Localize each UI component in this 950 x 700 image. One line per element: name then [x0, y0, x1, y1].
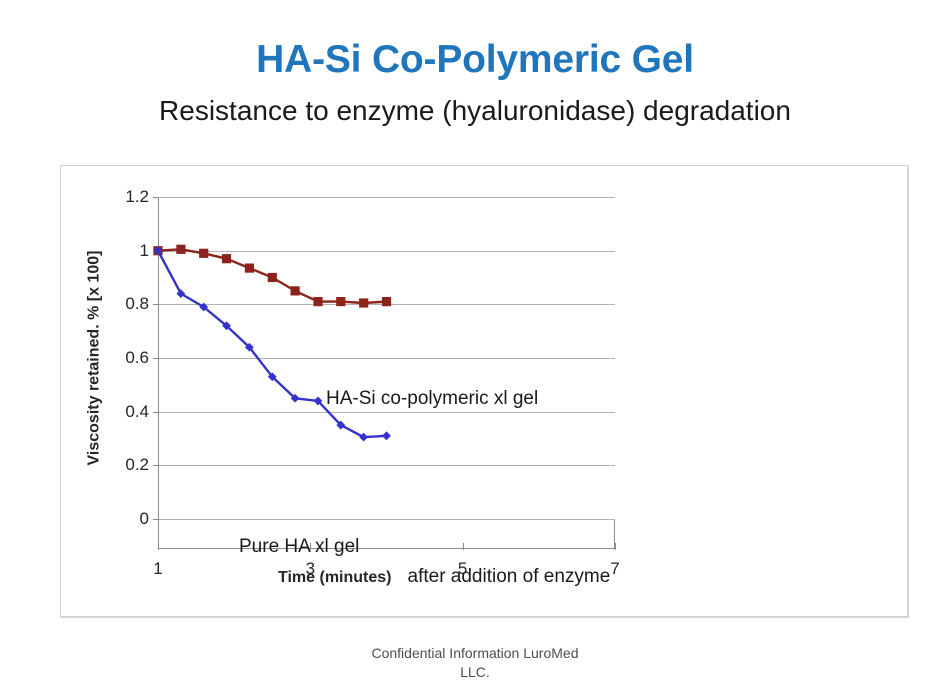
y-tick-mark	[153, 519, 159, 520]
x-axis-title-bold: Time (minutes)	[278, 569, 392, 586]
y-tick-label: 0.8	[125, 294, 149, 314]
y-axis-title: Viscosity retained. % [x 100]	[83, 197, 105, 519]
data-point	[382, 297, 391, 306]
data-point	[222, 254, 231, 263]
x-axis-title-suffix: after addition of enzyme	[408, 566, 611, 587]
series-plot	[158, 197, 615, 519]
data-point	[382, 431, 391, 440]
y-axis-title-label: Viscosity retained. % [x 100]	[85, 251, 103, 466]
footer: Confidential Information LuroMed LLC.	[0, 644, 950, 682]
data-point	[359, 433, 368, 442]
x-axis-title: Time (minutes) after addition of enzyme	[158, 566, 758, 588]
data-point	[176, 245, 185, 254]
x-tick-mark	[463, 543, 464, 550]
y-tick-label: 1.2	[125, 187, 149, 207]
y-tick-label: 0.6	[125, 348, 149, 368]
gridline	[158, 519, 615, 520]
data-point	[291, 286, 300, 295]
x-tick-mark	[615, 543, 616, 550]
series-label-ha-si: HA-Si co-polymeric xl gel	[326, 388, 538, 410]
y-tick-label: 0.2	[125, 455, 149, 475]
data-point	[268, 273, 277, 282]
x-tick-mark	[158, 543, 159, 550]
footer-line-1: Confidential Information LuroMed	[0, 644, 950, 663]
page-subtitle: Resistance to enzyme (hyaluronidase) deg…	[0, 96, 950, 127]
data-point	[336, 297, 345, 306]
chart-frame: Viscosity retained. % [x 100] 00.20.40.6…	[60, 165, 908, 617]
data-point	[199, 249, 208, 258]
y-tick-label: 0	[140, 509, 149, 529]
y-tick-label: 0.4	[125, 402, 149, 422]
footer-line-2: LLC.	[0, 663, 950, 682]
series-label-pure-ha: Pure HA xl gel	[239, 536, 359, 558]
data-point	[245, 264, 254, 273]
page-title: HA-Si Co-Polymeric Gel	[0, 40, 950, 81]
data-point	[359, 298, 368, 307]
data-point	[313, 297, 322, 306]
x-axis-line	[158, 548, 615, 549]
plot-area: 00.20.40.60.811.2 1357	[158, 197, 615, 519]
y-tick-label: 1	[140, 241, 149, 261]
